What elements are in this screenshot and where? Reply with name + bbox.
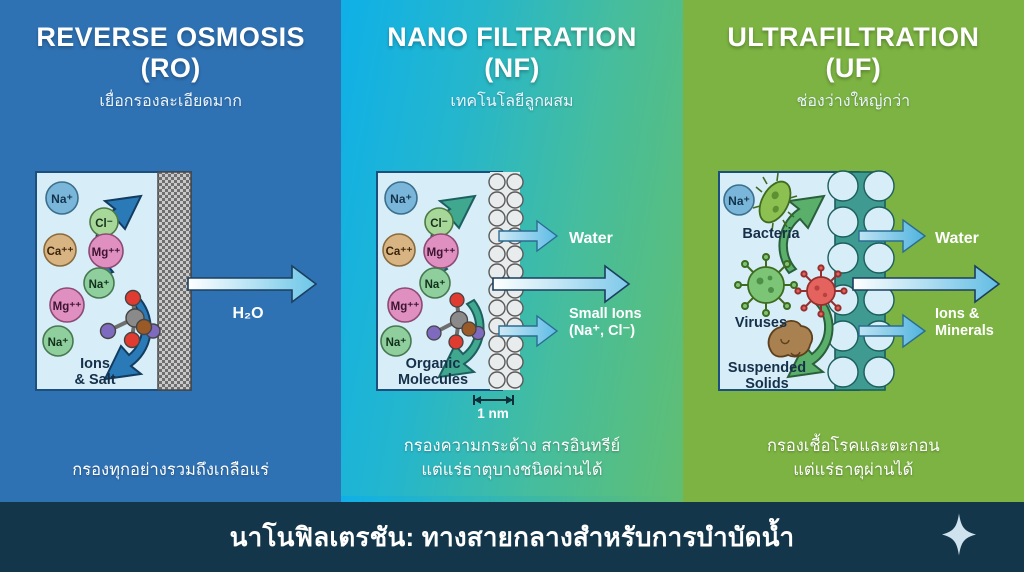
- svg-text:Mg⁺⁺: Mg⁺⁺: [92, 247, 121, 259]
- ion-mg-1: Mg⁺⁺: [424, 234, 458, 268]
- panel-caption-uf-line1: กรองเชื้อโรคและตะกอน: [695, 435, 1012, 458]
- svg-text:Na⁺: Na⁺: [425, 279, 446, 291]
- ion-na-2: Na⁺: [84, 268, 114, 298]
- panel-caption-ro-line1: กรองทุกอย่างรวมถึงเกลือแร่: [12, 459, 329, 482]
- ion-na-3: Na⁺: [43, 326, 73, 356]
- svg-text:Ca⁺⁺: Ca⁺⁺: [386, 246, 413, 258]
- nf-inner-label-line2: Molecules: [398, 372, 468, 388]
- ion-na-2: Na⁺: [420, 268, 450, 298]
- svg-text:Cl⁻: Cl⁻: [95, 218, 113, 230]
- uf-ions-minerals-line2: Minerals: [935, 323, 994, 339]
- uf-viruses-label: Viruses: [735, 315, 787, 331]
- ion-na-1: Na⁺: [385, 182, 417, 214]
- panel-row: REVERSE OSMOSIS (RO) เยื่อกรองละเอียดมาก: [0, 0, 1024, 502]
- uf-solids-label-line2: Solids: [745, 376, 789, 392]
- svg-text:Na⁺: Na⁺: [728, 194, 750, 208]
- ro-inner-label-line1: Ions: [80, 356, 110, 372]
- ion-mg-2: Mg⁺⁺: [388, 288, 422, 322]
- nf-ion-group: Na⁺ Cl⁻ Ca⁺⁺ Mg⁺⁺ Na⁺ Mg⁺⁺ Na⁺: [381, 182, 458, 356]
- svg-text:Na⁺: Na⁺: [48, 337, 69, 349]
- uf-bacteria-label: Bacteria: [742, 226, 800, 242]
- svg-text:Mg⁺⁺: Mg⁺⁺: [391, 301, 420, 313]
- diagram-ro: Na⁺ Cl⁻ Ca⁺⁺ Mg⁺⁺ Na⁺ Mg⁺⁺ Na⁺: [0, 0, 341, 502]
- svg-text:Na⁺: Na⁺: [386, 337, 407, 349]
- nf-water-label: Water: [569, 230, 613, 247]
- panel-caption-uf: กรองเชื้อโรคและตะกอน แต่แร่ธาตุผ่านได้: [683, 435, 1024, 482]
- nf-small-ions-label-line2: (Na⁺, Cl⁻): [569, 323, 635, 339]
- panel-caption-nf: กรองความกระด้าง สารอินทรีย์ แต่แร่ธาตุบา…: [341, 435, 682, 482]
- ion-cl-1: Cl⁻: [425, 208, 453, 236]
- panel-reverse-osmosis: REVERSE OSMOSIS (RO) เยื่อกรองละเอียดมาก: [0, 0, 341, 502]
- ro-h2o-label: H₂O: [232, 305, 263, 322]
- diagram-uf: Na⁺ Bacteria Viruses Suspended Solids Wa…: [683, 0, 1024, 502]
- diagram-nf: Na⁺ Cl⁻ Ca⁺⁺ Mg⁺⁺ Na⁺ Mg⁺⁺ Na⁺: [341, 0, 682, 502]
- svg-text:Na⁺: Na⁺: [89, 279, 110, 291]
- nf-inner-label-line1: Organic: [406, 356, 461, 372]
- banner-title: นาโนฟิลเตรชัน: ทางสายกลางสำหรับการบำบัดน…: [230, 517, 795, 558]
- ion-na-1: Na⁺: [724, 185, 754, 215]
- ion-na-3: Na⁺: [381, 326, 411, 356]
- ion-cl-1: Cl⁻: [90, 208, 118, 236]
- nf-scale-label: 1 nm: [478, 406, 510, 421]
- svg-text:Ca⁺⁺: Ca⁺⁺: [47, 246, 74, 258]
- ion-ca-1: Ca⁺⁺: [383, 234, 415, 266]
- uf-ions-minerals-line1: Ions &: [935, 306, 980, 322]
- infographic-root: REVERSE OSMOSIS (RO) เยื่อกรองละเอียดมาก: [0, 0, 1024, 572]
- panel-caption-nf-line2: แต่แร่ธาตุบางชนิดผ่านได้: [353, 459, 670, 482]
- ion-ca-1: Ca⁺⁺: [44, 234, 76, 266]
- svg-text:Mg⁺⁺: Mg⁺⁺: [427, 247, 456, 259]
- ro-ion-group: Na⁺ Cl⁻ Ca⁺⁺ Mg⁺⁺ Na⁺ Mg⁺⁺ Na⁺: [43, 182, 123, 356]
- svg-text:Cl⁻: Cl⁻: [431, 218, 449, 230]
- panel-caption-nf-line1: กรองความกระด้าง สารอินทรีย์: [353, 435, 670, 458]
- sparkle-icon: [942, 514, 976, 561]
- nf-small-ions-label-line1: Small Ions: [569, 306, 642, 322]
- svg-text:Mg⁺⁺: Mg⁺⁺: [53, 301, 82, 313]
- ion-mg-1: Mg⁺⁺: [89, 234, 123, 268]
- svg-text:Na⁺: Na⁺: [51, 192, 73, 206]
- ion-mg-2: Mg⁺⁺: [50, 288, 84, 322]
- panel-caption-uf-line2: แต่แร่ธาตุผ่านได้: [695, 459, 1012, 482]
- panel-ultrafiltration: ULTRAFILTRATION (UF) ช่องว่างใหญ่กว่า: [683, 0, 1024, 502]
- uf-water-label: Water: [935, 230, 979, 247]
- uf-solids-label-line1: Suspended: [728, 360, 806, 376]
- panel-caption-ro: กรองทุกอย่างรวมถึงเกลือแร่: [0, 459, 341, 482]
- panel-nano-filtration: NANO FILTRATION (NF) เทคโนโลยีลูกผสม: [341, 0, 682, 502]
- ro-inner-label-line2: & Salt: [74, 372, 115, 388]
- svg-text:Na⁺: Na⁺: [390, 192, 412, 206]
- ion-na-1: Na⁺: [46, 182, 78, 214]
- bottom-banner: นาโนฟิลเตรชัน: ทางสายกลางสำหรับการบำบัดน…: [0, 502, 1024, 572]
